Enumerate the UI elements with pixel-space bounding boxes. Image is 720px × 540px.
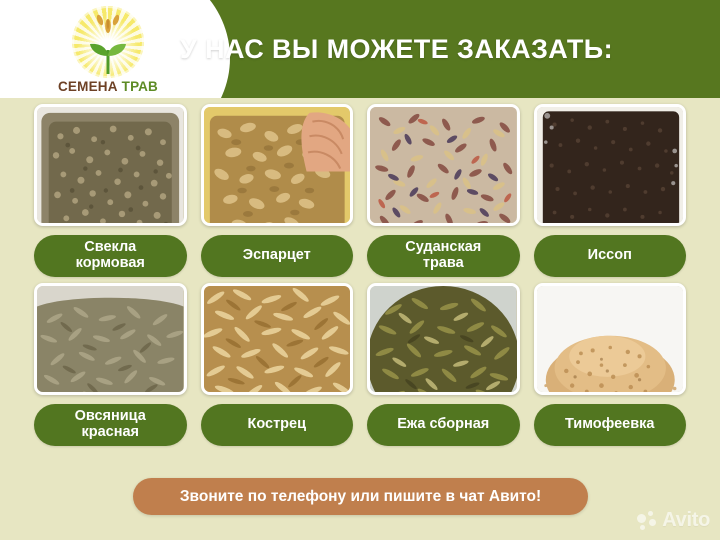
product-card-4[interactable]: Овсяница красная	[34, 283, 187, 446]
product-card-2[interactable]: Суданская трава	[367, 104, 520, 277]
product-label[interactable]: Тимофеевка	[534, 404, 687, 446]
product-image-red-fescue	[34, 283, 187, 395]
product-image-sainfoin	[201, 104, 354, 226]
product-label[interactable]: Кострец	[201, 404, 354, 446]
product-card-3[interactable]: Иссоп	[534, 104, 687, 277]
product-image-timothy-grass	[534, 283, 687, 395]
page-title: У НАС ВЫ МОЖЕТЕ ЗАКАЗАТЬ:	[180, 0, 613, 98]
product-image-brome-grass	[201, 283, 354, 395]
brand-word-2: ТРАВ	[122, 79, 158, 94]
product-card-7[interactable]: Тимофеевка	[534, 283, 687, 446]
product-label[interactable]: Иссоп	[534, 235, 687, 277]
avito-wordmark: Avito	[662, 509, 710, 532]
product-label[interactable]: Овсяница красная	[34, 404, 187, 446]
wheat-icon	[88, 12, 128, 42]
avito-watermark: Avito	[637, 509, 710, 532]
brand-logo-text: СЕМЕНА ТРАВ	[58, 80, 158, 94]
cta-banner[interactable]: Звоните по телефону или пишите в чат Ави…	[133, 478, 588, 515]
product-image-sudan-grass	[367, 104, 520, 226]
product-card-1[interactable]: Эспарцет	[201, 104, 354, 277]
header-banner: СЕМЕНА ТРАВ У НАС ВЫ МОЖЕТЕ ЗАКАЗАТЬ:	[0, 0, 720, 98]
brand-word-1: СЕМЕНА	[58, 79, 118, 94]
product-label[interactable]: Свекла кормовая	[34, 235, 187, 277]
product-label[interactable]: Ежа сборная	[367, 404, 520, 446]
product-card-6[interactable]: Ежа сборная	[367, 283, 520, 446]
product-image-hyssop	[534, 104, 687, 226]
green-sprout-icon	[85, 34, 131, 74]
product-card-0[interactable]: Свекла кормовая	[34, 104, 187, 277]
brand-logo[interactable]: СЕМЕНА ТРАВ	[48, 4, 168, 98]
product-grid: Свекла кормовая	[0, 104, 720, 446]
sun-badge-icon	[72, 6, 144, 78]
product-card-5[interactable]: Кострец	[201, 283, 354, 446]
product-label[interactable]: Суданская трава	[367, 235, 520, 277]
product-image-cocksfoot	[367, 283, 520, 395]
product-label[interactable]: Эспарцет	[201, 235, 354, 277]
avito-dots-logo-icon	[637, 511, 657, 531]
product-image-fodder-beet	[34, 104, 187, 226]
